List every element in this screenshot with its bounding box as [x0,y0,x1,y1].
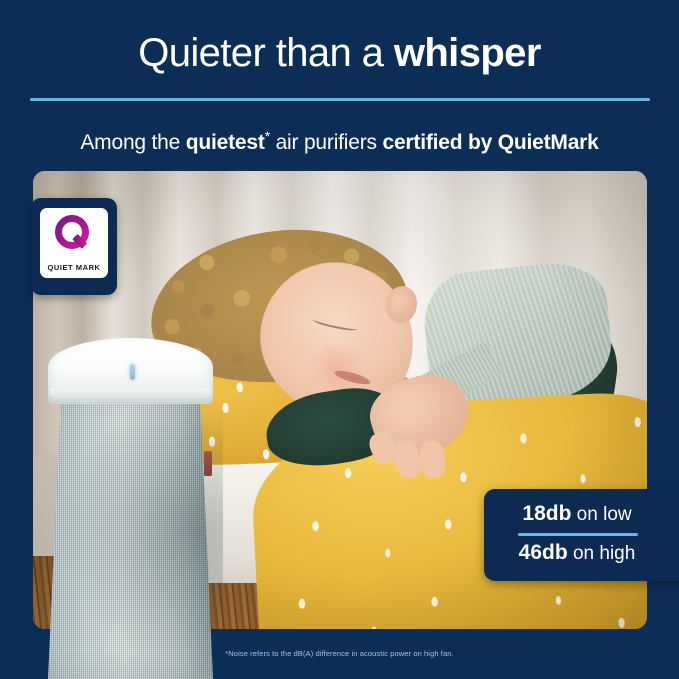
noise-level-callout: 18db on low 46db on high [484,489,679,581]
header-divider [30,98,650,101]
quiet-mark-label: QUIET MARK [48,263,101,272]
subtitle-part-1: Among the [80,131,185,154]
subtitle-bold-quietest: quietest [186,131,265,154]
noise-high-row: 46db on high [484,541,670,566]
purifier-cap-lip [50,388,211,398]
noise-low-row: 18db on low [484,502,670,527]
footnote-text: *Noise refers to the dB(A) difference in… [0,648,679,659]
headline-bold-text: whisper [394,31,541,75]
quiet-mark-q-icon [53,214,95,261]
air-purifier-product [38,338,223,679]
subtitle-part-2: air purifiers [270,131,383,154]
subtitle: Among the quietest* air purifiers certif… [0,122,679,157]
page-title: Quieter than a whisper [0,28,679,78]
product-feature-poster: Quieter than a whisper Among the quietes… [0,0,679,679]
purifier-fabric-prefilter [48,392,213,679]
brand-fabric-tab [204,451,212,476]
subtitle-bold-certified: certified by QuietMark [382,131,598,154]
noise-low-label: on low [571,504,631,525]
noise-low-value: 18db [522,502,571,525]
noise-callout-divider [518,533,638,536]
power-indicator-led [130,364,135,380]
noise-high-label: on high [568,543,636,564]
quiet-mark-card: QUIET MARK [40,208,108,278]
noise-high-value: 46db [519,541,568,564]
quiet-mark-badge: QUIET MARK [31,198,117,295]
headline-regular-text: Quieter than a [138,31,394,75]
